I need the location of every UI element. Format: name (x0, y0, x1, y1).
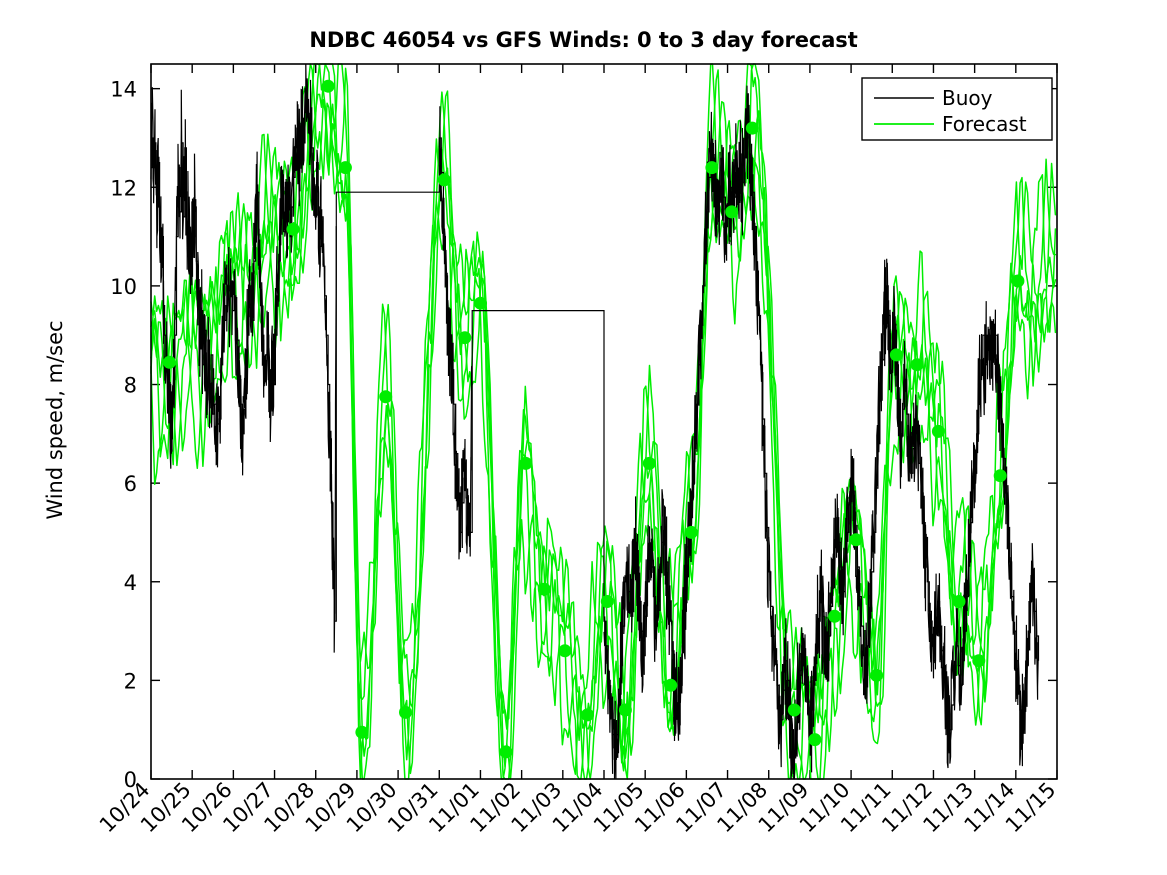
forecast-marker-point (705, 161, 718, 174)
legend[interactable]: Buoy Forecast (862, 78, 1052, 140)
y-tick-label: 10 (110, 275, 137, 299)
forecast-series-lines (151, 64, 1055, 779)
forecast-marker-point (355, 726, 368, 739)
forecast-marker-point (322, 80, 335, 93)
forecast-marker-point (643, 457, 656, 470)
forecast-marker-point (953, 595, 966, 608)
forecast-marker-point (399, 706, 412, 719)
forecast-marker-point (558, 644, 571, 657)
forecast-marker-point (725, 205, 738, 218)
y-tick-label: 6 (124, 472, 137, 496)
x-tick-labels: 10/2410/2510/2610/2710/2810/2910/3010/31… (95, 778, 1061, 838)
forecast-marker-point (601, 595, 614, 608)
forecast-marker-point (1011, 275, 1024, 288)
forecast-marker-point (972, 654, 985, 667)
legend-label-forecast: Forecast (942, 112, 1027, 136)
forecast-marker-point (932, 425, 945, 438)
forecast-marker-point (474, 297, 487, 310)
forecast-marker-point (458, 331, 471, 344)
forecast-marker-point (911, 358, 924, 371)
figure-canvas: NDBC 46054 vs GFS Winds: 0 to 3 day fore… (0, 0, 1167, 875)
forecast-marker-point (519, 457, 532, 470)
forecast-marker-point (890, 348, 903, 361)
y-tick-label: 14 (110, 78, 137, 102)
y-tick-label: 8 (124, 374, 137, 398)
forecast-marker-point (163, 356, 176, 369)
forecast-marker-point (828, 610, 841, 623)
forecast-marker-point (339, 161, 352, 174)
forecast-marker-point (685, 526, 698, 539)
y-axis-label: Wind speed, m/sec (43, 320, 67, 519)
forecast-marker-point (664, 679, 677, 692)
forecast-marker-point (850, 533, 863, 546)
y-tick-label: 4 (124, 571, 137, 595)
forecast-marker-point (538, 583, 551, 596)
forecast-marker-point (438, 173, 451, 186)
forecast-marker-point (870, 669, 883, 682)
forecast-marker-point (500, 745, 513, 758)
chart-plot-area: Wind speed, m/sec 02468101214 10/2410/25… (0, 0, 1167, 875)
y-tick-label: 12 (110, 176, 137, 200)
forecast-marker-point (746, 122, 759, 135)
legend-label-buoy: Buoy (942, 86, 993, 110)
y-tick-label: 2 (124, 669, 137, 693)
forecast-marker-point (379, 390, 392, 403)
forecast-marker-point (287, 223, 300, 236)
forecast-marker-point (808, 733, 821, 746)
forecast-marker-point (581, 708, 594, 721)
forecast-marker-point (994, 469, 1007, 482)
forecast-marker-point (788, 704, 801, 717)
y-tick-labels: 02468101214 (110, 78, 137, 792)
forecast-marker-point (619, 704, 632, 717)
